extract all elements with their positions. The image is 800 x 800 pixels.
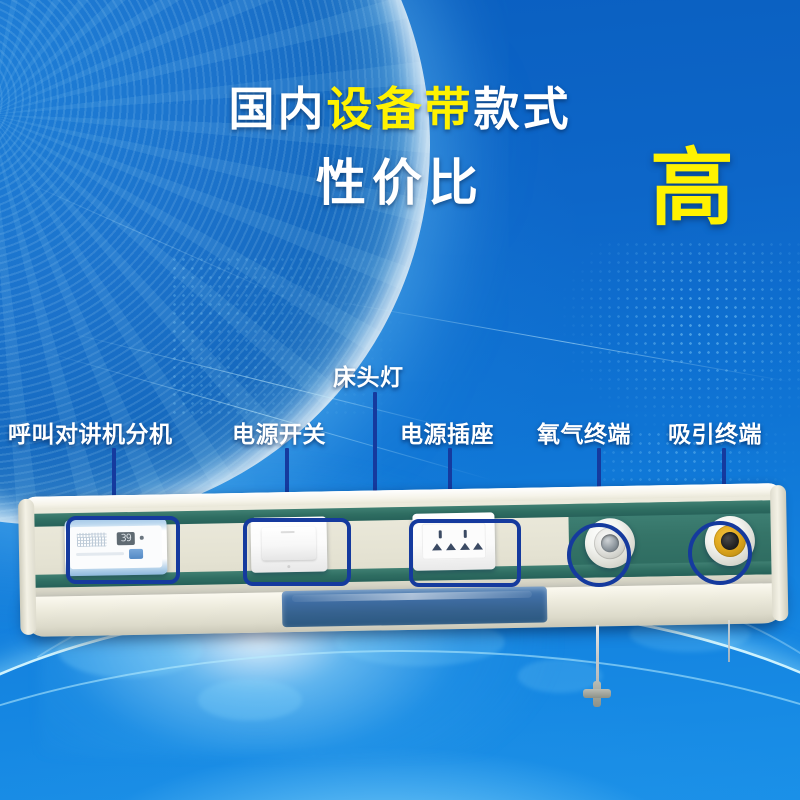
panel-end-cap-right — [770, 485, 788, 621]
highlight-box-switch — [243, 518, 351, 586]
callout-label-intercom: 呼叫对讲机分机 — [8, 415, 173, 449]
suction-hose-line — [728, 620, 730, 662]
callout-label-bedlamp: 床头灯 — [333, 358, 404, 392]
panel-end-cap-left — [18, 499, 36, 635]
highlight-ring-oxygen — [567, 523, 631, 587]
headline-part-2: 设备带 — [327, 83, 474, 135]
callout-label-suction: 吸引终端 — [668, 415, 762, 449]
headline-part-3: 款式 — [474, 83, 572, 135]
callout-label-switch: 电源开关 — [232, 415, 326, 449]
callout-label-socket: 电源插座 — [400, 415, 494, 449]
highlight-box-socket — [409, 519, 521, 587]
halftone-dots-left — [170, 255, 470, 415]
headline-line-1: 国内设备带款式 — [0, 86, 800, 132]
poster-canvas: 国内设备带款式 性价比 高 呼叫对讲机分机 电源开关 床头灯 电源插座 氧气终端… — [0, 0, 800, 800]
halftone-dots-right — [560, 240, 800, 440]
callout-label-oxygen: 氧气终端 — [537, 415, 631, 449]
oxygen-hose-line — [596, 625, 599, 687]
headline-part-1: 国内 — [229, 83, 327, 135]
highlight-box-intercom — [66, 516, 180, 584]
hose-cross-fitting — [583, 681, 611, 707]
highlight-ring-suction — [688, 521, 752, 585]
headline-emphasis: 高 — [650, 146, 734, 230]
